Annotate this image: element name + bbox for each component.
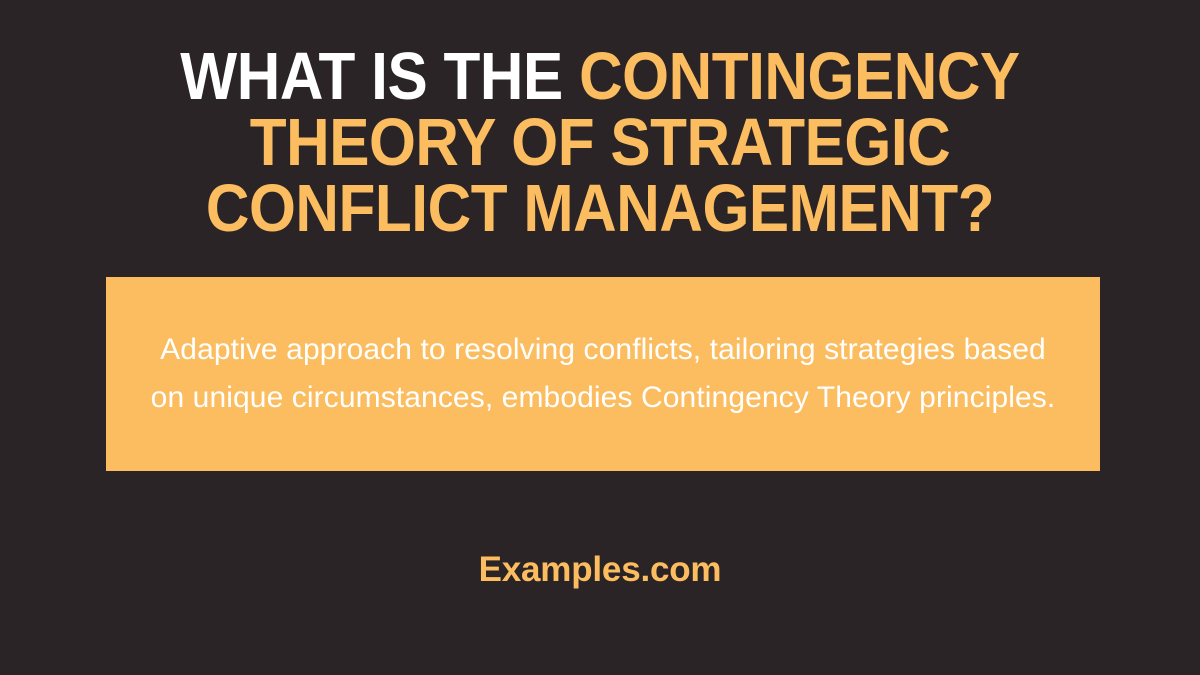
footer-brand-label: Examples.com [0,550,1200,590]
title-line-1-accent-word: CONTINGENCY [579,39,1020,114]
page-title: WHAT IS THE CONTINGENCY THEORY OF STRATE… [0,44,1200,242]
title-line-1: WHAT IS THE CONTINGENCY [60,44,1140,110]
title-line-1-accent-part [563,39,579,114]
description-card: Adaptive approach to resolving conflicts… [106,277,1100,471]
slide-canvas: WHAT IS THE CONTINGENCY THEORY OF STRATE… [0,0,1200,675]
title-line-1-white-part: WHAT IS THE [180,39,563,114]
description-text: Adaptive approach to resolving conflicts… [140,326,1066,422]
title-line-3: CONFLICT MANAGEMENT? [60,176,1140,242]
title-line-2: THEORY OF STRATEGIC [60,110,1140,176]
